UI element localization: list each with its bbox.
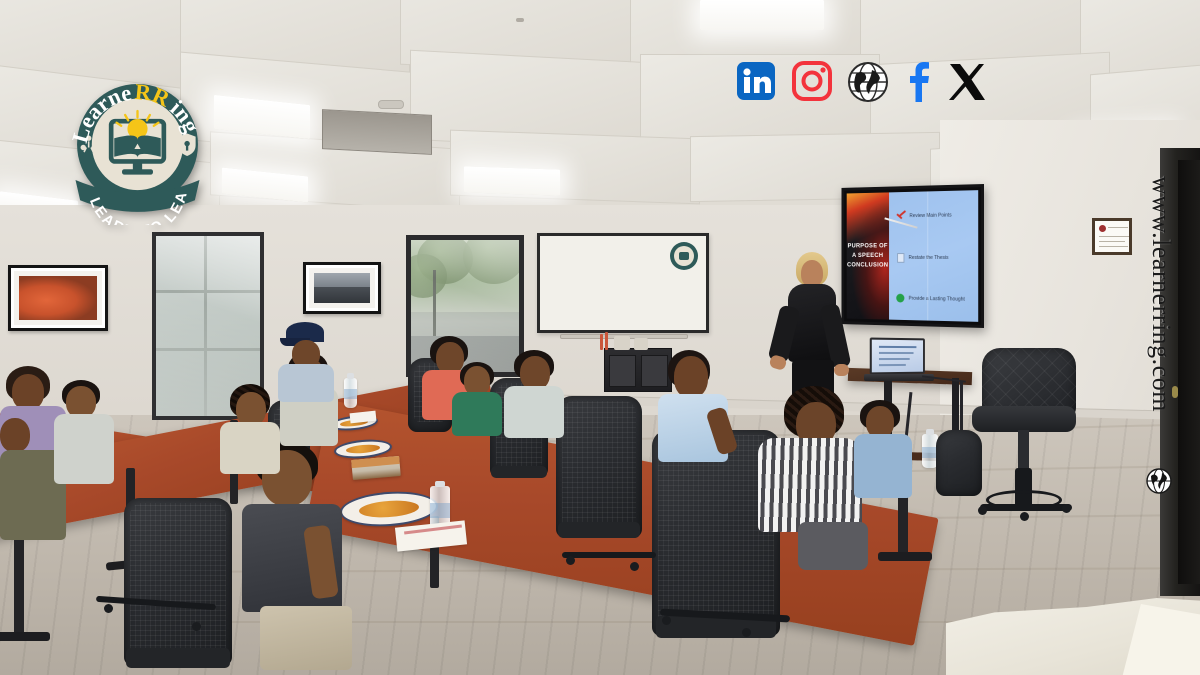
green-dot-icon (896, 294, 904, 303)
slide-bullet-1-text: Review Main Points (909, 212, 951, 219)
table-leg (14, 530, 24, 638)
laptop-screen (870, 338, 925, 375)
student-torso (54, 414, 114, 484)
slide-title: PURPOSE OF A SPEECH CONCLUSION (847, 242, 889, 270)
slide-title-panel: PURPOSE OF A SPEECH CONCLUSION (847, 192, 889, 319)
student-torso (278, 364, 334, 402)
slide-bullet-2: Restate the Thesis (897, 253, 949, 263)
slide-bullet-2-text: Restate the Thesis (909, 255, 949, 261)
framed-helicopter-photo (8, 265, 108, 331)
chair-caster (978, 506, 987, 515)
presenter-hand-right (834, 364, 849, 376)
ceiling-speaker-icon (516, 18, 524, 22)
chair-caster (662, 616, 671, 625)
table-leg-foot (0, 632, 50, 641)
presenter-head (801, 260, 823, 287)
instagram-icon[interactable] (791, 60, 835, 109)
chair-seat (972, 406, 1076, 432)
chair-caster (1062, 504, 1071, 513)
student-head (674, 356, 708, 398)
chair-caster (1020, 512, 1029, 521)
office-chair[interactable] (936, 430, 982, 496)
student (656, 350, 728, 460)
facebook-icon[interactable] (901, 60, 935, 109)
office-chair[interactable] (124, 498, 232, 666)
student-torso-striped (758, 438, 862, 532)
student (754, 386, 864, 566)
drafting-chair[interactable] (972, 348, 1082, 518)
social-media-bar (735, 60, 987, 109)
student-lap (798, 522, 868, 570)
document-icon (897, 253, 904, 263)
ceiling-light-panel (700, 0, 824, 30)
chair-caster (742, 628, 751, 637)
door[interactable] (1178, 160, 1200, 584)
website-url: www.learnerring.com (1146, 176, 1176, 412)
cabinet-door[interactable] (609, 355, 636, 387)
framed-osprey-photo (303, 262, 381, 314)
student (854, 400, 914, 498)
student (504, 350, 566, 436)
whiteboard (537, 233, 709, 333)
chair-caster (104, 604, 113, 613)
student-head (236, 392, 266, 426)
student-torso (504, 386, 564, 438)
water-bottle[interactable] (344, 378, 357, 408)
linkedin-icon[interactable] (735, 60, 779, 109)
presentation-display: PURPOSE OF A SPEECH CONCLUSION Review Ma… (842, 184, 984, 328)
learnerring-logo: Learne RR ing LEARN TO LEAD (60, 70, 215, 225)
student (452, 362, 504, 436)
slide-bullet-3-text: Provide a Lasting Thought (909, 295, 965, 302)
classroom-photo-scene: PURPOSE OF A SPEECH CONCLUSION Review Ma… (0, 0, 1200, 675)
whiteboard-logo-emblem (670, 242, 698, 270)
chair-caster (630, 562, 639, 571)
chair-caster (192, 622, 201, 631)
chair-base (980, 504, 1072, 511)
student (220, 384, 282, 472)
student-head (0, 418, 30, 452)
framed-certificate (1092, 218, 1132, 255)
slide: PURPOSE OF A SPEECH CONCLUSION Review Ma… (847, 190, 978, 322)
slide-bullet-1: Review Main Points (895, 211, 952, 221)
book[interactable] (351, 456, 401, 480)
student-torso (854, 434, 912, 498)
slide-bullets-panel: Review Main Points Restate the Thesis Pr… (889, 190, 979, 322)
supply-cup (634, 338, 648, 350)
table-leg-foot (878, 552, 932, 561)
check-icon (895, 211, 905, 220)
student (232, 442, 352, 674)
student-torso (452, 392, 502, 436)
student-torso (220, 422, 280, 474)
office-chair[interactable] (556, 396, 642, 538)
globe-icon[interactable] (847, 61, 889, 108)
smoke-detector-icon (378, 100, 404, 109)
supply-cup (614, 336, 630, 350)
student (54, 380, 116, 484)
ceiling-light-panel (464, 166, 560, 195)
x-twitter-icon[interactable] (947, 61, 987, 108)
slide-bullet-3: Provide a Lasting Thought (896, 294, 965, 304)
ceiling-vent (322, 109, 432, 155)
markers (605, 332, 608, 350)
globe-watermark-icon (1146, 468, 1172, 499)
markers (600, 334, 603, 350)
chair-caster (566, 556, 575, 565)
student-with-cap (278, 322, 334, 398)
chair-base (562, 552, 656, 558)
student-head (520, 356, 550, 390)
student-shorts (260, 606, 352, 670)
presenter (772, 252, 850, 400)
